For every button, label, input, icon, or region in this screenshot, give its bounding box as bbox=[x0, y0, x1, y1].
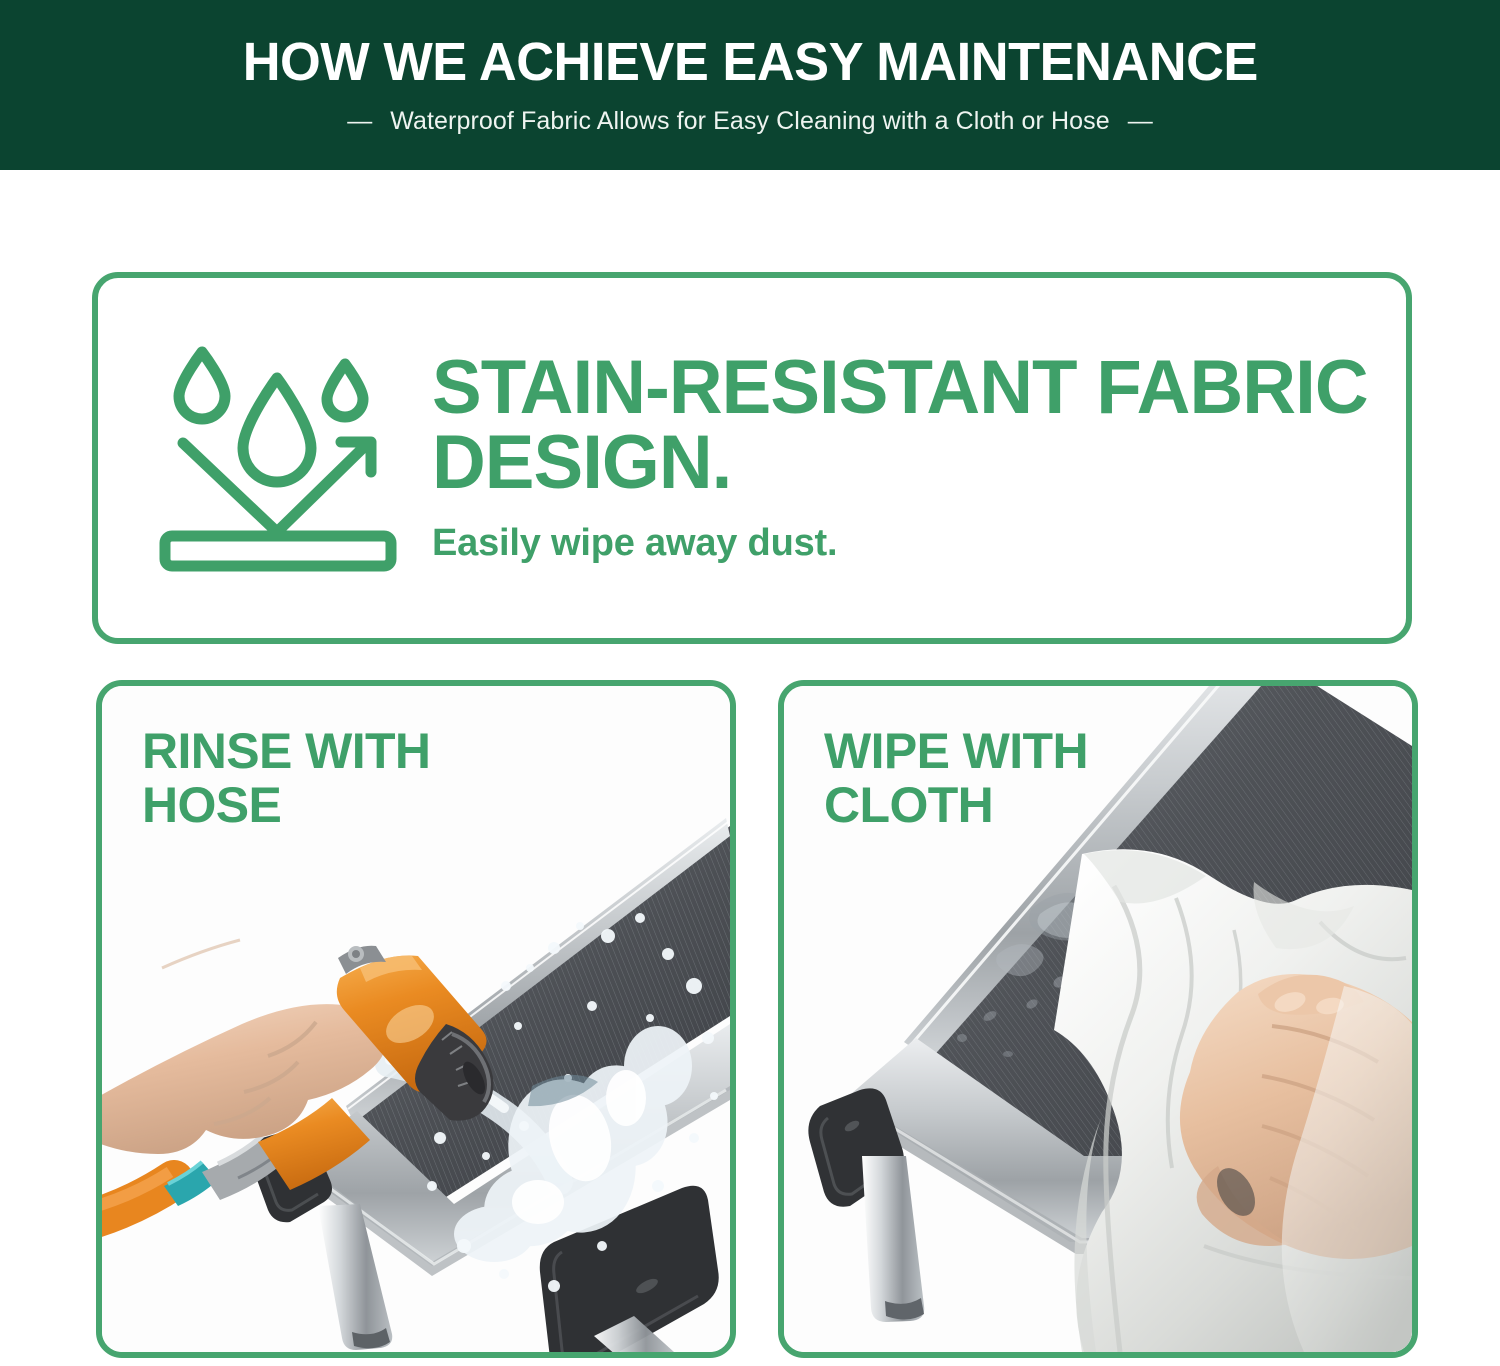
water-repellent-drops-icon bbox=[146, 333, 414, 583]
page-title: HOW WE ACHIEVE EASY MAINTENANCE bbox=[242, 35, 1257, 89]
rinse-card-heading: RINSE WITH HOSE bbox=[142, 724, 430, 832]
feature-card-inner: STAIN-RESISTANT FABRIC DESIGN. Easily wi… bbox=[98, 278, 1406, 638]
infographic-page: HOW WE ACHIEVE EASY MAINTENANCE — Waterp… bbox=[0, 0, 1500, 1366]
wipe-card-heading: WIPE WITH CLOTH bbox=[824, 724, 1088, 832]
feature-headline: STAIN-RESISTANT FABRIC DESIGN. bbox=[432, 351, 1387, 500]
header-banner: HOW WE ACHIEVE EASY MAINTENANCE — Waterp… bbox=[0, 0, 1500, 170]
page-subtitle: Waterproof Fabric Allows for Easy Cleani… bbox=[390, 107, 1110, 136]
feature-text-block: STAIN-RESISTANT FABRIC DESIGN. Easily wi… bbox=[432, 351, 1406, 565]
dash-left-icon: — bbox=[347, 109, 372, 134]
rinse-with-hose-card: RINSE WITH HOSE bbox=[96, 680, 736, 1358]
dash-right-icon: — bbox=[1128, 109, 1153, 134]
wipe-with-cloth-card: WIPE WITH CLOTH bbox=[778, 680, 1418, 1358]
feature-card-stain-resistant: STAIN-RESISTANT FABRIC DESIGN. Easily wi… bbox=[92, 272, 1412, 644]
feature-subline: Easily wipe away dust. bbox=[432, 522, 1406, 565]
subtitle-row: — Waterproof Fabric Allows for Easy Clea… bbox=[347, 107, 1153, 136]
